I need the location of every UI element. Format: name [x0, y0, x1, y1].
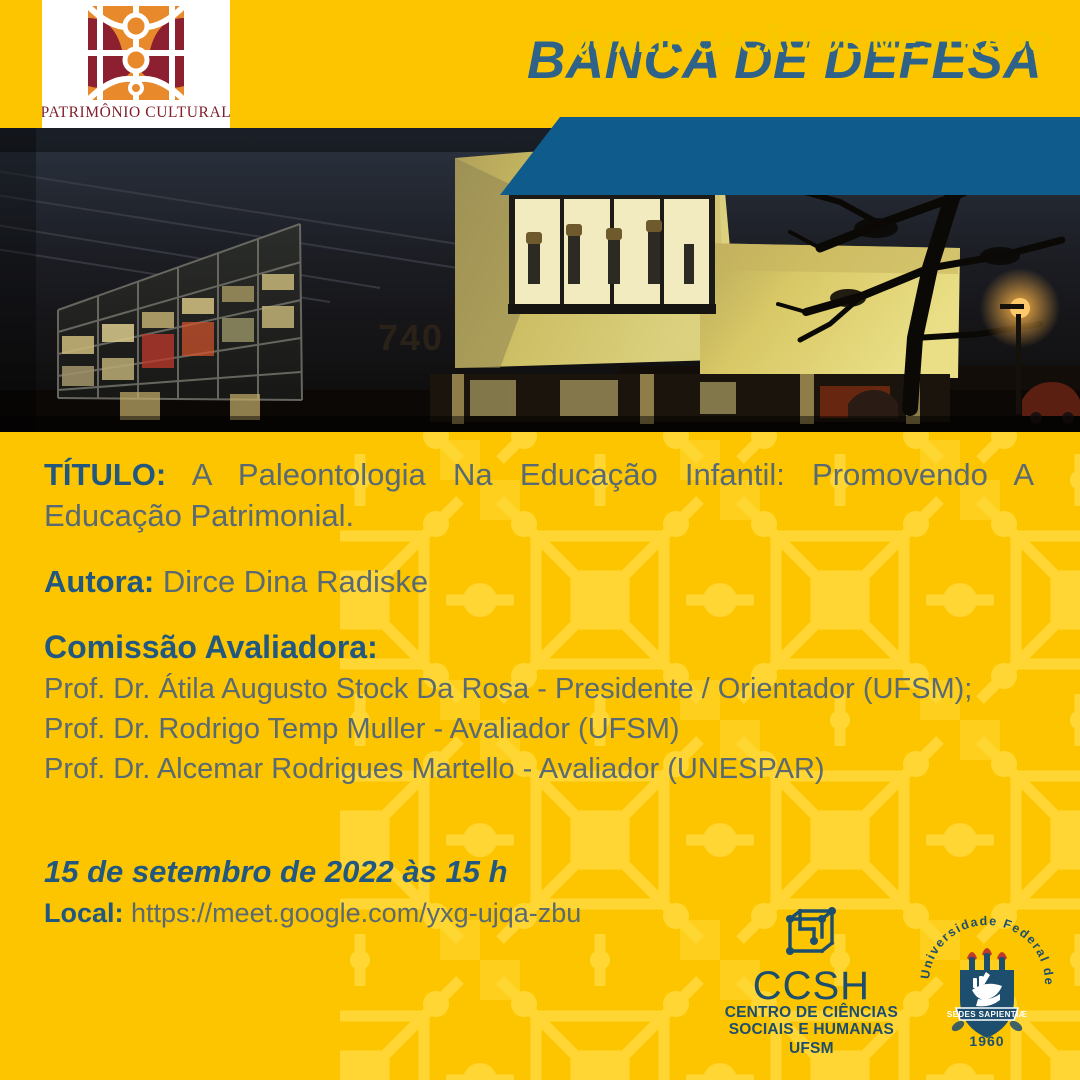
commission-member: Prof. Dr. Átila Augusto Stock Da Rosa - …: [44, 669, 1034, 709]
ccsh-logo: CCSH CENTRO DE CIÊNCIAS SOCIAIS E HUMANA…: [725, 907, 898, 1058]
commission-heading: Comissão Avaliadora:: [44, 627, 1034, 667]
ccsh-acronym: CCSH: [753, 967, 870, 1005]
event-date: 15 de setembro de 2022 às 15 h: [44, 852, 1034, 892]
ccsh-line1: CENTRO DE CIÊNCIAS: [725, 1005, 898, 1021]
commission-block: Comissão Avaliadora: Prof. Dr. Átila Aug…: [44, 627, 1034, 789]
ccsh-line2: SOCIAIS E HUMANAS: [729, 1022, 894, 1038]
poster-root: 740: [0, 0, 1080, 1080]
author-block: Autora: Dirce Dina Radiske: [44, 562, 1034, 602]
footer-logos: CCSH CENTRO DE CIÊNCIAS SOCIAIS E HUMANA…: [725, 907, 1062, 1058]
author-label: Autora:: [44, 564, 154, 599]
ufsm-motto: SEDES SAPIENTIÆ: [947, 1010, 1027, 1019]
location-url[interactable]: https://meet.google.com/yxg-ujqa-zbu: [131, 898, 581, 928]
ufsm-coat-of-arms: Universidade Federal de Santa Maria: [912, 908, 1062, 1058]
commission-member: Prof. Dr. Rodrigo Temp Muller - Avaliado…: [44, 709, 1034, 749]
sub-banner-label: QUALIFICAÇÃO DE MESTRADO: [567, 24, 1052, 60]
thesis-title-block: TÍTULO: A Paleontologia Na Educação Infa…: [44, 454, 1034, 536]
commission-member: Prof. Dr. Alcemar Rodrigues Martello - A…: [44, 749, 1034, 789]
author-value: Dirce Dina Radiske: [163, 564, 428, 599]
patrimonio-cultural-logo: PATRIMÔNIO CULTURAL: [42, 0, 230, 128]
ufsm-year: 1960: [969, 1033, 1004, 1049]
location-label: Local:: [44, 898, 124, 928]
thesis-title-label: TÍTULO:: [44, 457, 166, 492]
thesis-title-value: A Paleontologia Na Educação Infantil: Pr…: [44, 457, 1034, 533]
ccsh-cube-icon: [780, 907, 842, 965]
sub-banner-shape: [0, 117, 1080, 195]
svg-text:740: 740: [378, 317, 444, 358]
patrimonio-cultural-emblem: [80, 2, 192, 106]
ccsh-line3: UFSM: [789, 1040, 834, 1058]
